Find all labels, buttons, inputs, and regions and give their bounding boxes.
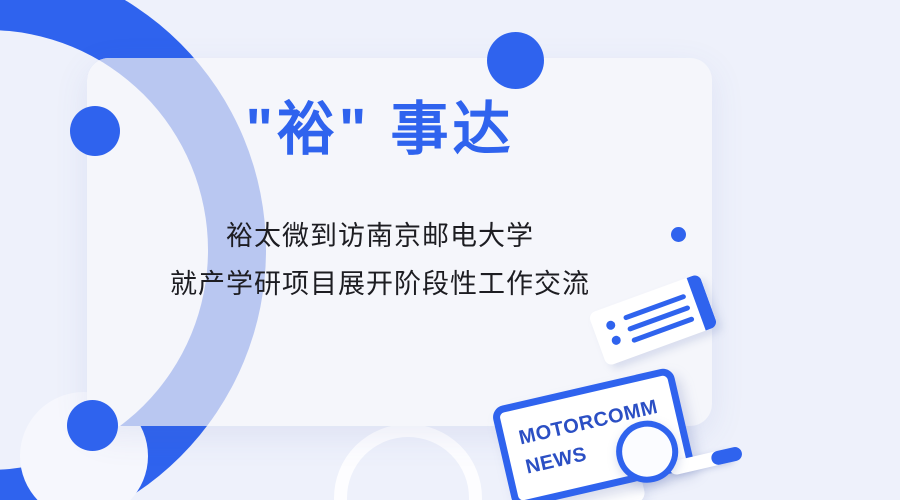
subtitle-line-1: 裕太微到访南京邮电大学 <box>0 212 760 260</box>
white-ring-bottom-center <box>334 424 482 500</box>
document-bullet-icon-1 <box>605 319 617 331</box>
blue-dot-left <box>70 106 120 156</box>
magnifier-lens <box>610 415 684 489</box>
document-bullet-icon-2 <box>610 335 622 347</box>
blue-dot-center-right <box>671 227 686 242</box>
news-banner: "裕" 事达 裕太微到访南京邮电大学 就产学研项目展开阶段性工作交流 MOTOR… <box>0 0 900 500</box>
magnifier-handle-tip <box>710 446 743 467</box>
blue-dot-top <box>487 32 544 89</box>
blue-dot-bottom-left <box>67 400 118 451</box>
